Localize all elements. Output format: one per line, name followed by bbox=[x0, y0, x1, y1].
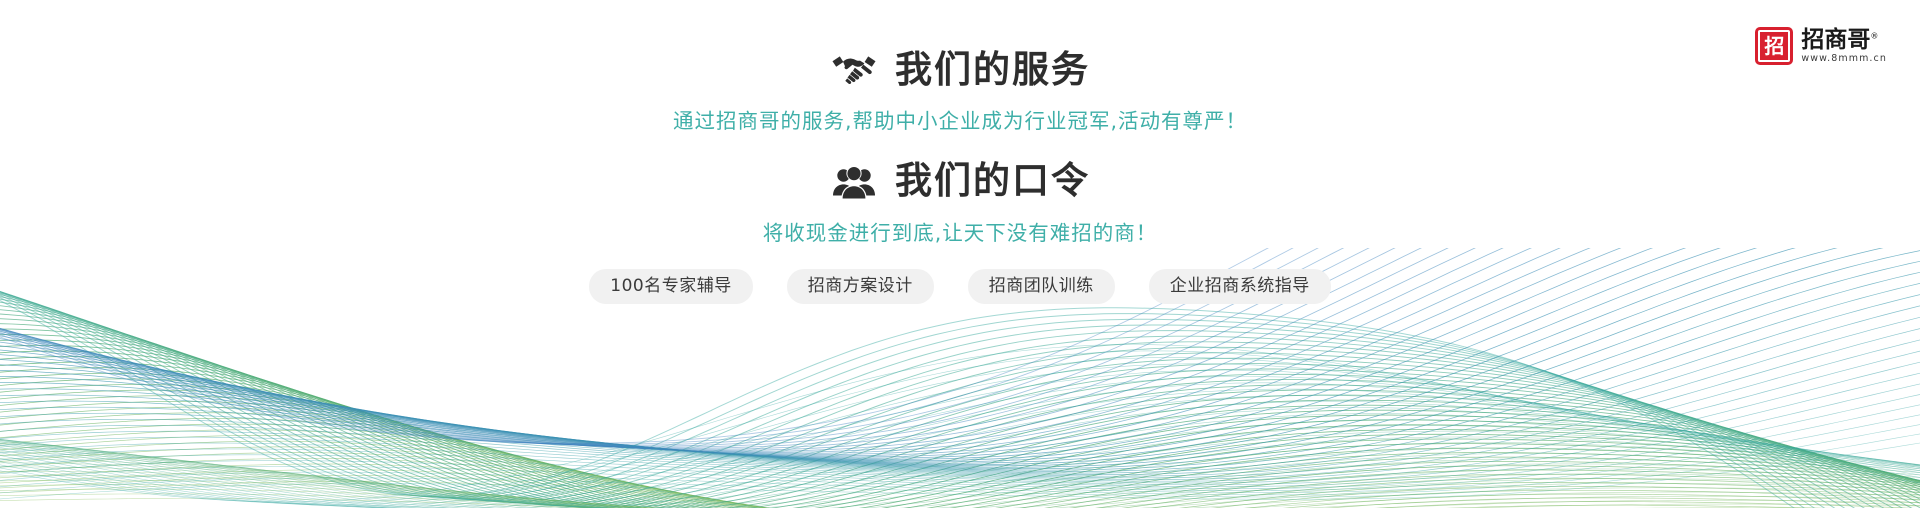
section-services-subtitle: 通过招商哥的服务,帮助中小企业成为行业冠军,活动有尊严！ bbox=[0, 109, 1920, 134]
brand-logo-mark-char: 招 bbox=[1764, 36, 1784, 56]
brand-url: www.8mmm.cn bbox=[1801, 53, 1887, 64]
banner-root: 招 招商哥® www.8mmm.cn bbox=[0, 0, 1920, 508]
brand-name: 招商哥® bbox=[1801, 28, 1887, 52]
service-tag-list: 100名专家辅导 招商方案设计 招商团队训练 企业招商系统指导 bbox=[0, 269, 1920, 304]
service-tag-team-training[interactable]: 招商团队训练 bbox=[968, 269, 1115, 304]
service-tag-system-guidance[interactable]: 企业招商系统指导 bbox=[1149, 269, 1331, 304]
people-group-icon bbox=[830, 160, 878, 204]
section-slogan-heading: 我们的口令 bbox=[0, 160, 1920, 204]
brand-logo-mark: 招 bbox=[1755, 27, 1793, 65]
brand-logo[interactable]: 招 招商哥® www.8mmm.cn bbox=[1755, 27, 1887, 65]
handshake-icon bbox=[830, 48, 878, 92]
banner-content: 我们的服务 通过招商哥的服务,帮助中小企业成为行业冠军,活动有尊严！ bbox=[0, 0, 1920, 304]
brand-logo-text: 招商哥® www.8mmm.cn bbox=[1801, 28, 1887, 64]
registered-mark-icon: ® bbox=[1870, 31, 1878, 40]
section-services-title: 我们的服务 bbox=[895, 50, 1090, 91]
brand-name-text: 招商哥 bbox=[1801, 27, 1870, 53]
service-tag-expert-coaching[interactable]: 100名专家辅导 bbox=[589, 269, 752, 304]
section-slogan: 我们的口令 将收现金进行到底,让天下没有难招的商！ bbox=[0, 160, 1920, 246]
section-services: 我们的服务 通过招商哥的服务,帮助中小企业成为行业冠军,活动有尊严！ bbox=[0, 48, 1920, 134]
section-slogan-subtitle: 将收现金进行到底,让天下没有难招的商！ bbox=[0, 221, 1920, 246]
section-services-heading: 我们的服务 bbox=[0, 48, 1920, 92]
section-slogan-title: 我们的口令 bbox=[895, 161, 1090, 202]
service-tag-plan-design[interactable]: 招商方案设计 bbox=[787, 269, 934, 304]
